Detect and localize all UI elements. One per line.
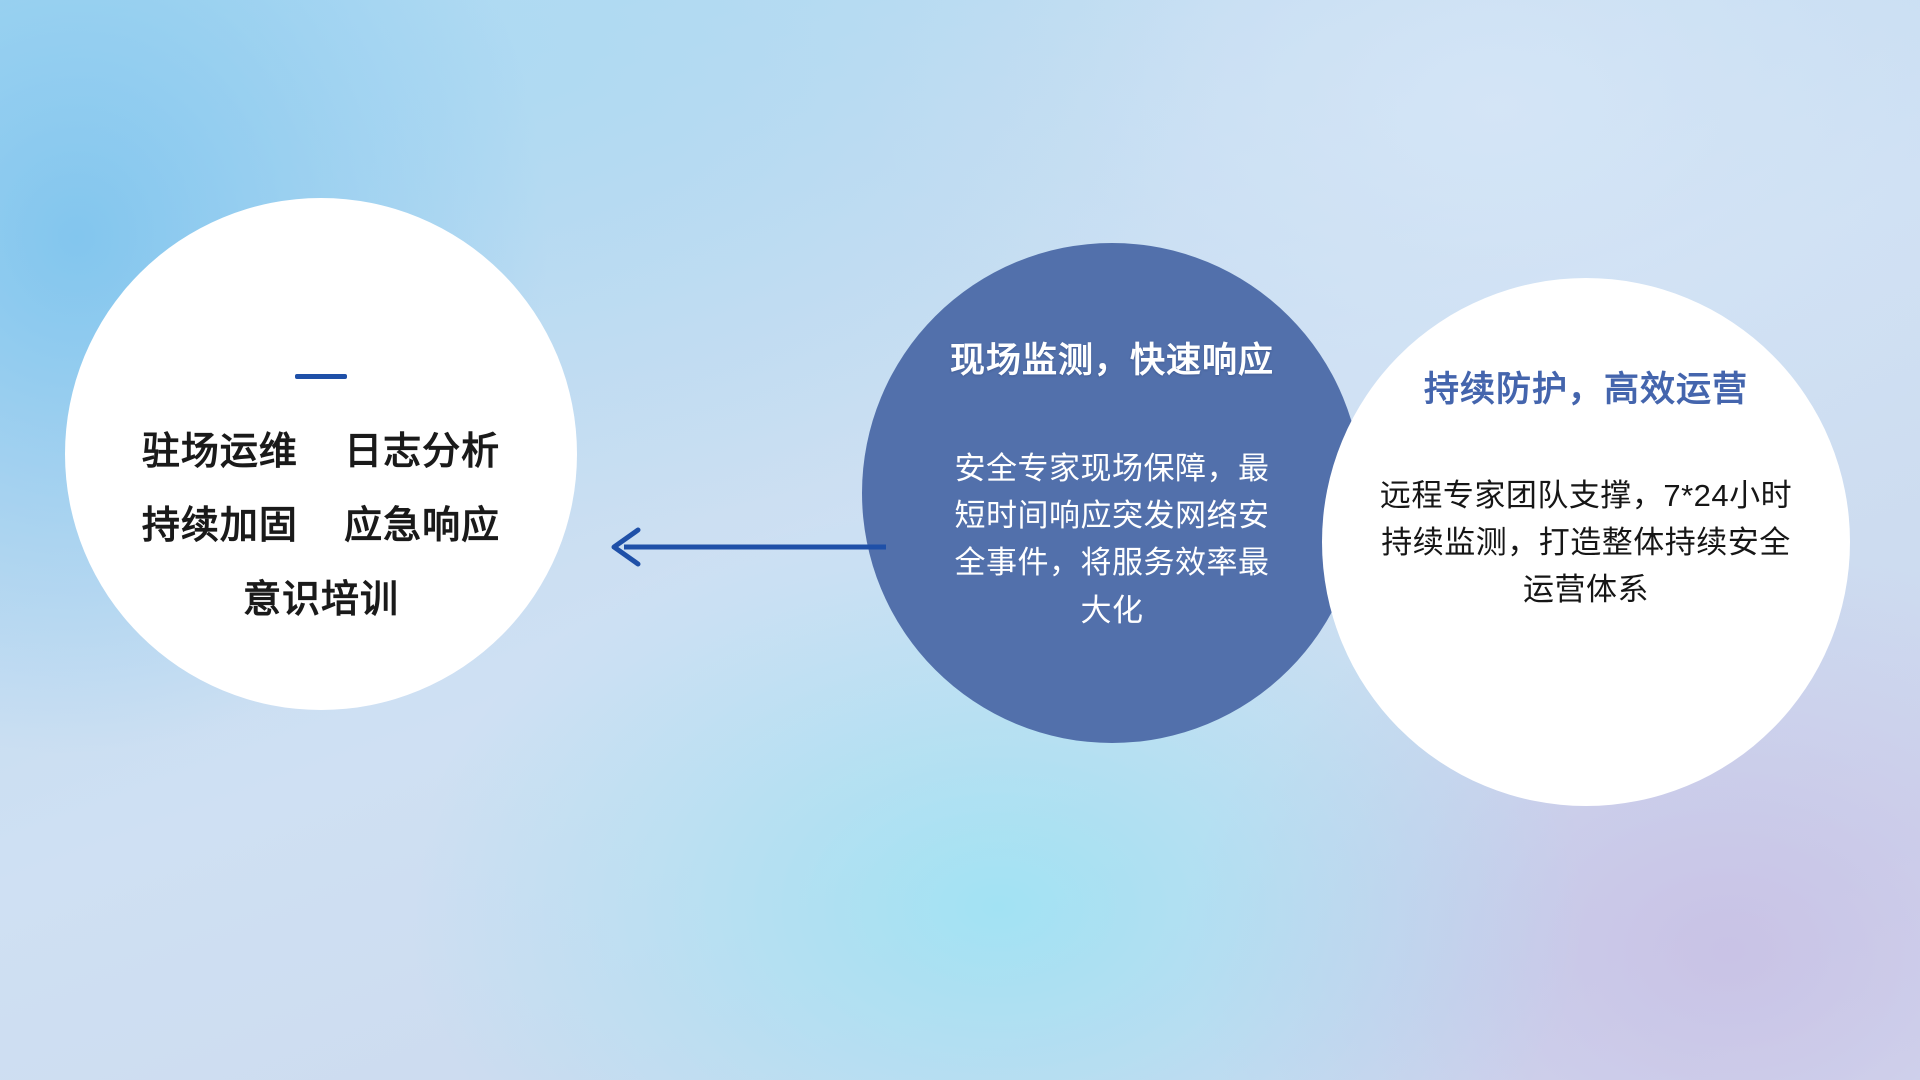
left-capability-line-3: 意识培训: [243, 581, 399, 619]
middle-onsite-circle[interactable]: 现场监测，快速响应 安全专家现场保障，最短时间响应突发网络安全事件，将服务效率最…: [862, 243, 1362, 743]
left-capability-circle[interactable]: 驻场运维 日志分析 持续加固 应急响应 意识培训: [65, 198, 577, 710]
middle-circle-body: 安全专家现场保障，最短时间响应突发网络安全事件，将服务效率最大化: [947, 445, 1277, 633]
middle-circle-title: 现场监测，快速响应: [950, 341, 1274, 381]
right-operations-circle[interactable]: 持续防护，高效运营 远程专家团队支撑，7*24小时持续监测，打造整体持续安全运营…: [1322, 278, 1850, 806]
left-arrow-icon: [598, 520, 888, 576]
left-capability-line-2: 持续加固 应急响应: [142, 507, 500, 545]
right-circle-body: 远程专家团队支撑，7*24小时持续监测，打造整体持续安全运营体系: [1376, 472, 1796, 613]
slide-canvas: 驻场运维 日志分析 持续加固 应急响应 意识培训 现场监测，快速响应 安全专家现…: [0, 0, 1920, 1080]
left-capability-line-1: 驻场运维 日志分析: [142, 433, 500, 471]
right-circle-title: 持续防护，高效运营: [1424, 370, 1748, 410]
left-divider-rule: [295, 374, 347, 379]
